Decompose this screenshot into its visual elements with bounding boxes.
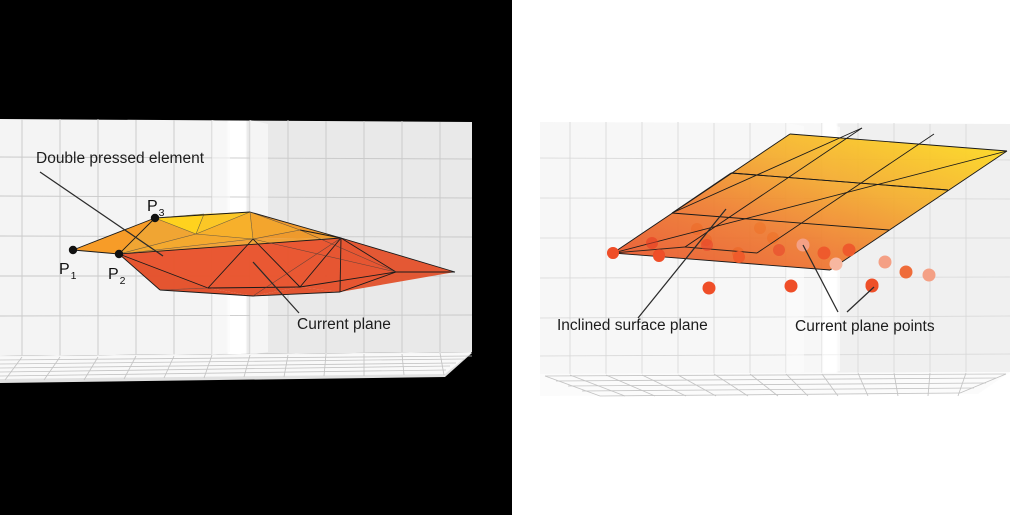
node-dot-p1 — [69, 246, 77, 254]
plane-point — [646, 237, 658, 249]
plane-point — [879, 256, 892, 269]
annotation-inclined-surface-plane: Inclined surface plane — [557, 317, 708, 334]
right-plot-svg: Inclined surface plane Current plane poi… — [512, 0, 1024, 515]
plane-point — [818, 247, 831, 260]
plane-point — [773, 244, 785, 256]
plane-point — [701, 239, 713, 251]
plane-point — [830, 258, 843, 271]
double-pressed-element-panel: Double pressed element Current plane P1 … — [0, 0, 512, 515]
annotation-double-pressed-element: Double pressed element — [36, 150, 205, 167]
inclined-surface-plane-panel: Inclined surface plane Current plane poi… — [512, 0, 1024, 515]
plane-point — [653, 250, 665, 262]
plane-point — [785, 280, 798, 293]
plane-point — [843, 244, 856, 257]
left-plot-svg: Double pressed element Current plane P1 … — [0, 0, 512, 515]
plane-point — [900, 266, 913, 279]
floor-plate — [0, 353, 472, 383]
annotation-current-plane: Current plane — [297, 316, 391, 333]
plane-point — [607, 247, 619, 259]
plane-point — [733, 251, 745, 263]
plane-point — [923, 269, 936, 282]
annotation-current-plane-points: Current plane points — [795, 318, 935, 335]
node-dot-p2 — [115, 250, 123, 258]
figure-root: Double pressed element Current plane P1 … — [0, 0, 1024, 515]
plane-point — [703, 282, 716, 295]
